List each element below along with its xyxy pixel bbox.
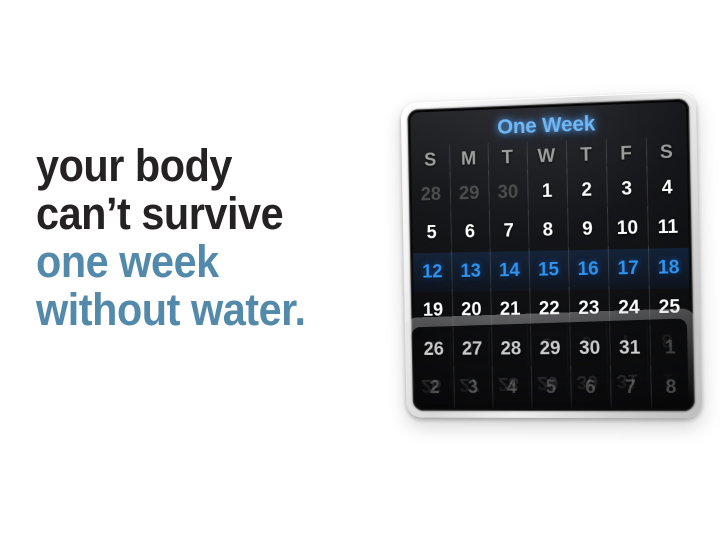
calendar-day-cell[interactable]: 5 bbox=[412, 214, 451, 254]
calendar-day-header: T bbox=[566, 139, 606, 171]
calendar-day-cell[interactable]: 18 bbox=[648, 248, 689, 289]
headline-line-1: your body bbox=[36, 142, 367, 190]
calendar-day-cell: 31 bbox=[607, 360, 648, 401]
calendar-day-cell: 22 bbox=[528, 401, 568, 423]
reflection-fade-overlay bbox=[380, 420, 720, 540]
calendar-day-cell[interactable]: 2 bbox=[566, 170, 607, 211]
calendar-day-cell: 1 bbox=[647, 358, 688, 399]
calendar-day-cell: 5 bbox=[527, 322, 567, 362]
calendar-day-cell: 6 bbox=[566, 321, 607, 362]
calendar-day-header: F bbox=[606, 138, 647, 171]
calendar-day-cell: 8 bbox=[646, 318, 687, 359]
calendar-day-header: W bbox=[527, 140, 567, 172]
calendar-week-row: 2627282930311 bbox=[412, 358, 688, 404]
calendar-day-cell[interactable]: 16 bbox=[568, 249, 609, 289]
headline-block: your body can’t survive one week without… bbox=[36, 142, 396, 334]
calendar-day-cell: 21 bbox=[489, 402, 529, 423]
calendar-day-cell: 23 bbox=[568, 400, 609, 423]
device-reflection: One Week SMTWTFS282930123456789101112131… bbox=[402, 308, 699, 423]
calendar-day-cell[interactable]: 8 bbox=[528, 211, 568, 251]
calendar-day-cell[interactable]: 1 bbox=[527, 171, 567, 211]
calendar-day-cell: 4 bbox=[488, 324, 528, 364]
poster-canvas: your body can’t survive one week without… bbox=[0, 0, 720, 540]
calendar-day-cell: 7 bbox=[606, 320, 647, 361]
calendar-day-cell[interactable]: 9 bbox=[567, 210, 608, 250]
calendar-day-cell[interactable]: 3 bbox=[606, 169, 647, 210]
reflection-screen: One Week SMTWTFS282930123456789101112131… bbox=[411, 318, 693, 423]
calendar-day-cell: 28 bbox=[489, 363, 529, 403]
calendar-day-cell[interactable]: 4 bbox=[646, 168, 687, 209]
calendar-day-cell[interactable]: 13 bbox=[451, 252, 490, 292]
calendar-day-header: S bbox=[411, 145, 450, 177]
calendar-day-cell: 29 bbox=[528, 362, 568, 402]
calendar-day-cell: 19 bbox=[413, 404, 452, 424]
headline-line-3: one week bbox=[36, 238, 367, 286]
calendar-day-cell[interactable]: 17 bbox=[608, 249, 649, 289]
calendar-day-cell[interactable]: 12 bbox=[413, 253, 452, 292]
calendar-day-cell: 26 bbox=[412, 365, 451, 405]
calendar-week-row: 2345678 bbox=[411, 318, 687, 366]
calendar-day-cell: 30 bbox=[567, 361, 608, 402]
calendar-day-header: T bbox=[488, 142, 528, 174]
calendar-day-cell: 3 bbox=[449, 325, 488, 365]
headline-line-2: can’t survive bbox=[36, 190, 367, 238]
calendar-day-cell: 27 bbox=[450, 364, 489, 404]
calendar-day-cell[interactable]: 7 bbox=[489, 212, 529, 252]
calendar-day-cell: 25 bbox=[648, 399, 689, 424]
calendar-day-cell[interactable]: 10 bbox=[607, 209, 648, 250]
calendar-day-cell: 2 bbox=[411, 326, 450, 366]
calendar-day-cell[interactable]: 28 bbox=[412, 175, 451, 215]
calendar-day-cell[interactable]: 15 bbox=[529, 250, 569, 290]
calendar-day-cell[interactable]: 6 bbox=[450, 213, 489, 253]
calendar-day-header: S bbox=[646, 136, 687, 169]
calendar-day-cell[interactable]: 30 bbox=[488, 173, 528, 213]
reflection-grid: SMTWTFS282930123456789101112131415161718… bbox=[411, 318, 692, 423]
calendar-day-cell[interactable]: 11 bbox=[647, 208, 688, 249]
calendar-day-cell: 20 bbox=[451, 403, 490, 423]
calendar-day-cell[interactable]: 29 bbox=[450, 174, 489, 214]
calendar-day-cell[interactable]: 14 bbox=[490, 251, 530, 291]
headline-line-4: without water. bbox=[36, 286, 367, 334]
calendar-day-cell: 24 bbox=[608, 399, 649, 423]
calendar-day-header: M bbox=[449, 143, 488, 175]
reflection-bezel: One Week SMTWTFS282930123456789101112131… bbox=[402, 308, 699, 423]
